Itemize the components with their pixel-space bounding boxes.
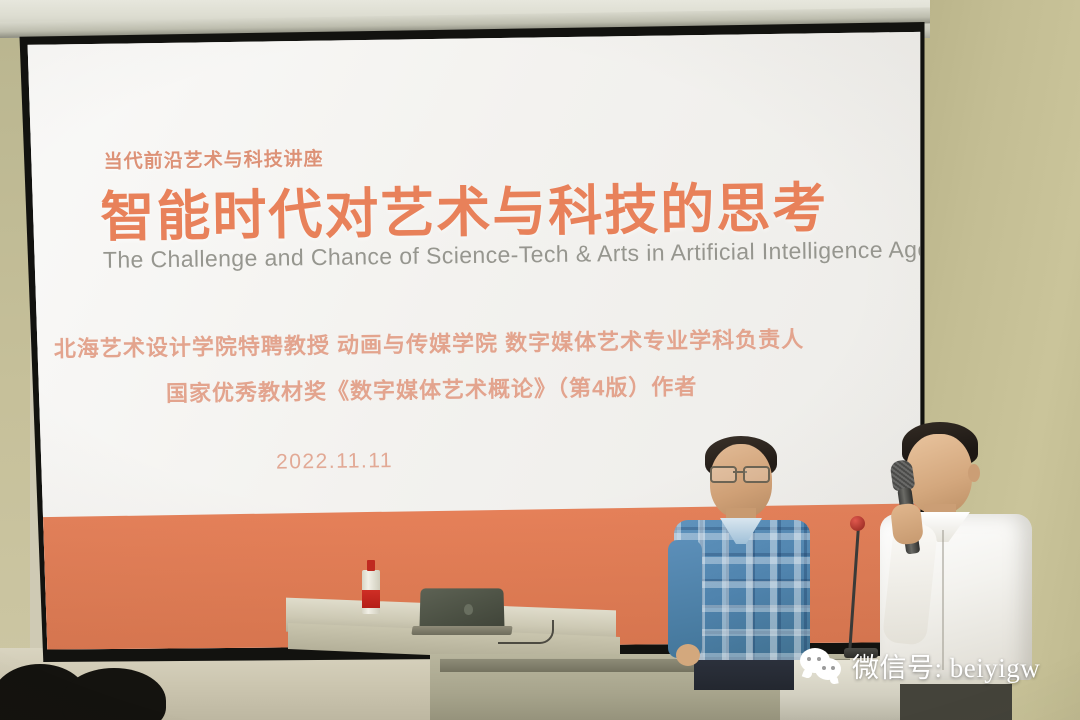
microphone-rod [848, 526, 860, 650]
lecture-photograph: 当代前沿艺术与科技讲座 智能时代对艺术与科技的思考 The Challenge … [0, 0, 1080, 720]
speaker-right-ear [968, 464, 980, 482]
laptop-cable [498, 620, 554, 644]
wechat-id-text: 微信号: beiyigw [852, 646, 1040, 685]
wechat-watermark: 微信号: beiyigw [800, 646, 1040, 685]
microphone-head [850, 516, 865, 531]
speaker-left-hand [676, 644, 700, 666]
laptop-lid [419, 588, 504, 630]
laptop-logo [464, 604, 473, 615]
podium-shadow-panel [900, 684, 1012, 720]
speaker-right-hand [890, 503, 924, 546]
bottle-cap [367, 560, 375, 571]
slide-credit-line-1: 北海艺术设计学院特聘教授 动画与传媒学院 数字媒体艺术专业学科负责人 [24, 321, 878, 365]
handheld-microphone-head [889, 459, 915, 492]
bottle-label [362, 590, 380, 608]
slide-date: 2022.11.11 [24, 444, 784, 480]
slide-kicker: 当代前沿艺术与科技讲座 [103, 144, 323, 174]
speaker-right [880, 420, 1040, 680]
wechat-icon [800, 648, 844, 684]
eyeglasses-icon [710, 466, 770, 479]
laptop-computer [412, 588, 508, 634]
speaker-left-arm [668, 540, 702, 658]
wechat-bubble-small [815, 658, 841, 680]
speaker-left [672, 436, 812, 666]
desk-microphone [848, 512, 872, 662]
water-bottle [362, 560, 380, 614]
slide-credit-line-2: 国家优秀教材奖《数字媒体艺术概论》（第4版）作者 [24, 367, 881, 411]
